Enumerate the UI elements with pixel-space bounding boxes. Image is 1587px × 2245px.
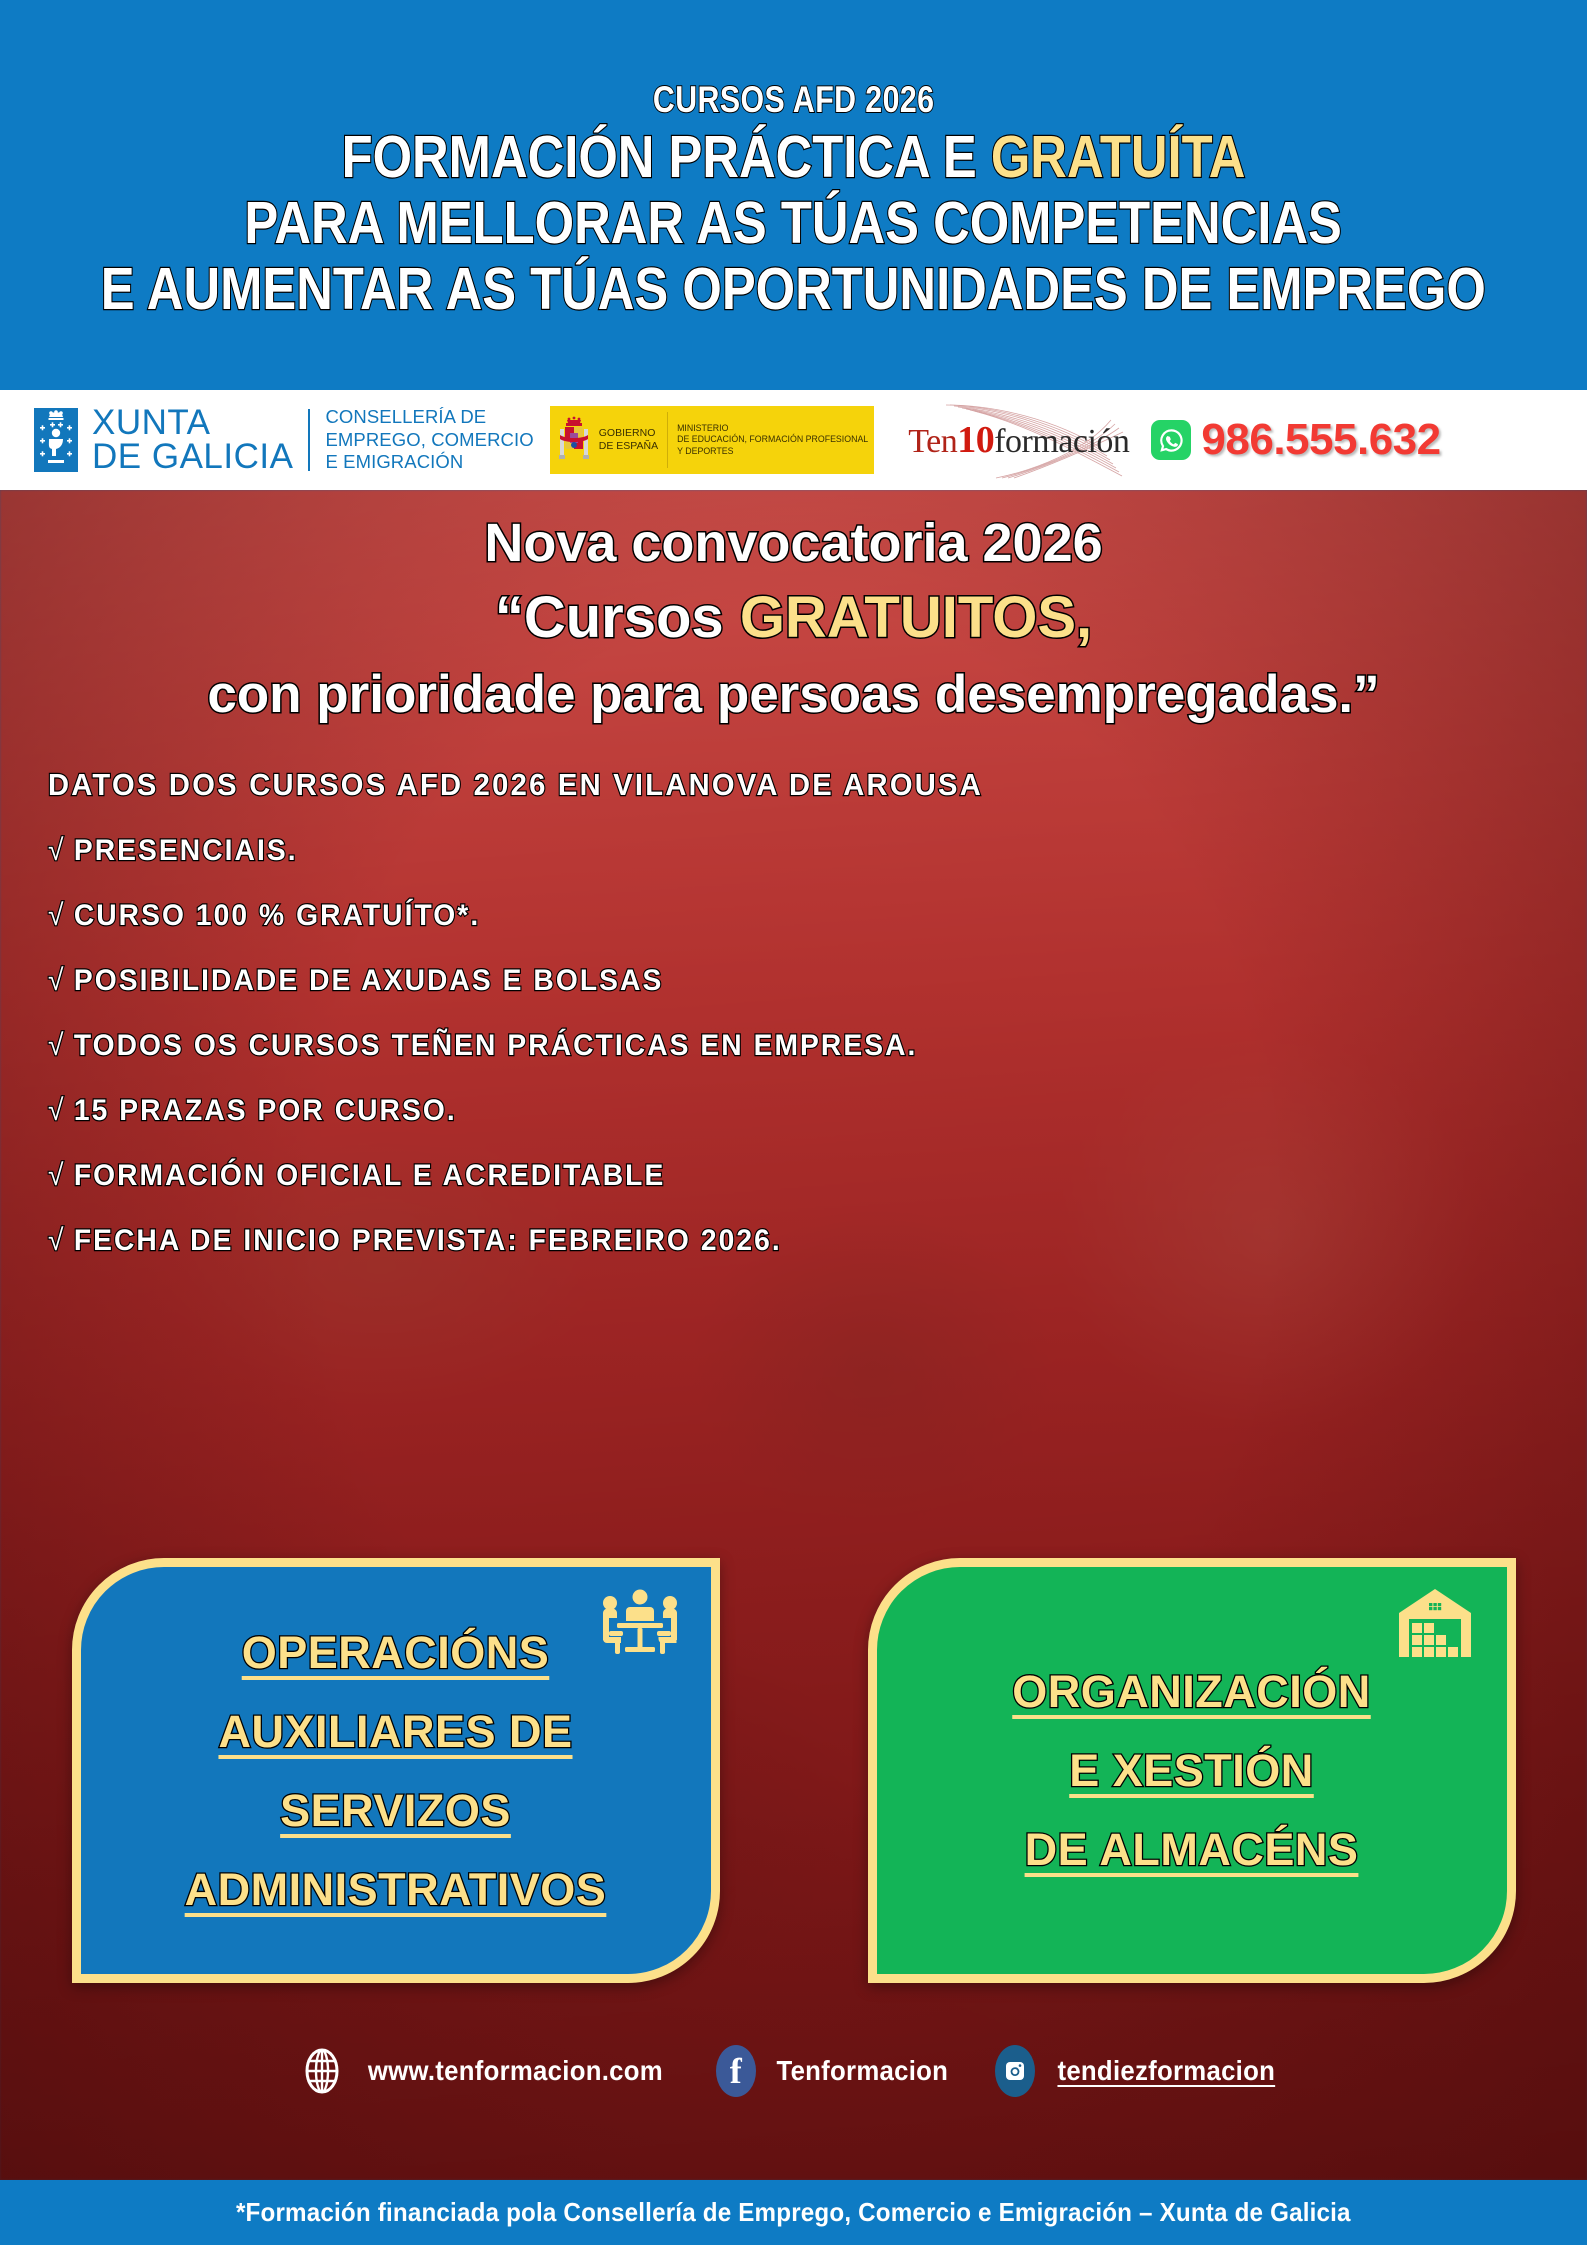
list-item-label: POSIBILIDADE DE AXUDAS E BOLSAS <box>74 964 664 997</box>
list-item: √PRESENCIAIS. <box>48 834 1495 868</box>
whatsapp-contact[interactable]: 986.555.632 <box>1151 415 1440 465</box>
conselleria-line2: EMPREGO, COMERCIO <box>325 429 533 452</box>
list-item: √FECHA DE INICIO PREVISTA: FEBREIRO 2026… <box>48 1224 1495 1258</box>
course-details-heading: DATOS DOS CURSOS AFD 2026 EN VILANOVA DE… <box>48 767 1495 803</box>
xunta-de-galicia-logo: XUNTA DE GALICIA <box>34 406 293 474</box>
list-item: √FORMACIÓN OFICIAL E ACREDITABLE <box>48 1159 1495 1193</box>
social-links: www.tenformacion.com f Tenformacion tend… <box>0 2045 1587 2097</box>
conselleria-line1: CONSELLERÍA DE <box>325 406 533 429</box>
list-item-label: TODOS OS CURSOS TEÑEN PRÁCTICAS EN EMPRE… <box>74 1029 918 1062</box>
check-icon: √ <box>48 899 63 932</box>
logo-bar: XUNTA DE GALICIA CONSELLERÍA DE EMPREGO,… <box>0 390 1587 490</box>
course-card-line: ORGANIZACIÓN <box>1012 1669 1371 1714</box>
meeting-table-icon <box>599 1585 681 1664</box>
gobierno-label: GOBIERNO DE ESPAÑA <box>599 427 658 453</box>
list-item-label: PRESENCIAIS. <box>74 834 298 867</box>
list-item-label: FORMACIÓN OFICIAL E ACREDITABLE <box>74 1159 666 1192</box>
facebook-label[interactable]: Tenformacion <box>776 2055 948 2087</box>
course-card-line: AUXILIARES DE <box>218 1709 572 1754</box>
whatsapp-icon[interactable] <box>1151 420 1191 460</box>
footer-funding-note: *Formación financiada pola Consellería d… <box>236 2197 1351 2228</box>
conselleria-line3: E EMIGRACIÓN <box>325 451 533 474</box>
check-icon: √ <box>48 1224 63 1257</box>
gobierno-de-espana-logo: GOBIERNO DE ESPAÑA MINISTERIO DE EDUCACI… <box>550 406 874 474</box>
header-line-1-text: FORMACIÓN PRÁCTICA E <box>342 124 991 190</box>
phone-number[interactable]: 986.555.632 <box>1201 415 1440 465</box>
course-card-line: DE ALMACÉNS <box>1025 1827 1359 1872</box>
check-icon: √ <box>48 1029 63 1062</box>
course-card-line: E XESTIÓN <box>1069 1748 1314 1793</box>
gobierno-line2: DE ESPAÑA <box>599 440 658 453</box>
warehouse-icon <box>1393 1585 1477 1664</box>
brand-part-ten: Ten <box>908 423 957 460</box>
brand-part-ten-number: 10 <box>957 419 994 461</box>
list-item: √CURSO 100 % GRATUÍTO*. <box>48 899 1495 933</box>
intro-line-1: Nova convocatoria 2026 <box>0 512 1587 576</box>
header-line-2: PARA MELLORAR AS TÚAS COMPETENCIAS <box>245 190 1343 256</box>
xunta-wordmark-line2: DE GALICIA <box>92 440 293 474</box>
list-item-label: 15 PRAZAS POR CURSO. <box>74 1094 457 1127</box>
course-card-line: ADMINISTRATIVOS <box>185 1867 607 1912</box>
course-card-operacions-auxiliares[interactable]: OPERACIÓNS AUXILIARES DE SERVIZOS ADMINI… <box>72 1558 720 1983</box>
check-icon: √ <box>48 964 63 997</box>
facebook-link[interactable]: f Tenformacion <box>716 2045 956 2097</box>
ministerio-line3: Y DEPORTES <box>677 446 868 457</box>
instagram-icon[interactable] <box>995 2045 1035 2097</box>
ministerio-label: MINISTERIO DE EDUCACIÓN, FORMACIÓN PROFE… <box>677 423 868 457</box>
course-card-line: OPERACIÓNS <box>242 1630 550 1675</box>
tenformacion-wordmark: Ten10formación <box>908 418 1129 462</box>
intro-line-2: “Cursos GRATUITOS, <box>0 584 1587 652</box>
check-icon: √ <box>48 834 63 867</box>
intro-line-2-text: “Cursos <box>495 585 740 650</box>
header-line-1-highlight: GRATUÍTA <box>991 124 1246 190</box>
instagram-label[interactable]: tendiezformacion <box>1058 2055 1276 2087</box>
header-line-3: E AUMENTAR AS TÚAS OPORTUNIDADES DE EMPR… <box>101 256 1486 322</box>
intro-line-2-highlight: GRATUITOS, <box>740 585 1092 650</box>
poster-header: CURSOS AFD 2026 FORMACIÓN PRÁCTICA E GRA… <box>0 0 1587 390</box>
poster-body: Nova convocatoria 2026 “Cursos GRATUITOS… <box>0 490 1587 2180</box>
globe-icon <box>302 2048 342 2094</box>
check-icon: √ <box>48 1094 63 1127</box>
course-cards: OPERACIÓNS AUXILIARES DE SERVIZOS ADMINI… <box>0 1558 1587 1983</box>
list-item: √TODOS OS CURSOS TEÑEN PRÁCTICAS EN EMPR… <box>48 1029 1495 1063</box>
xunta-wordmark: XUNTA DE GALICIA <box>92 406 293 474</box>
logo-divider <box>308 409 310 471</box>
website-label[interactable]: www.tenformacion.com <box>368 2055 663 2087</box>
header-line-1: FORMACIÓN PRÁCTICA E GRATUÍTA <box>342 124 1246 190</box>
intro-line-3: con prioridade para persoas desempregada… <box>0 664 1587 727</box>
xunta-chalice-shield-icon <box>34 408 78 472</box>
header-kicker: CURSOS AFD 2026 <box>653 81 935 120</box>
website-link[interactable]: www.tenformacion.com <box>302 2048 676 2094</box>
list-item-label: FECHA DE INICIO PREVISTA: FEBREIRO 2026. <box>74 1224 782 1257</box>
gobierno-line1: GOBIERNO <box>599 427 658 440</box>
list-item: √POSIBILIDADE DE AXUDAS E BOLSAS <box>48 964 1495 998</box>
ministerio-line2: DE EDUCACIÓN, FORMACIÓN PROFESIONAL <box>677 434 868 445</box>
course-card-line: SERVIZOS <box>280 1788 511 1833</box>
list-item-label: CURSO 100 % GRATUÍTO*. <box>74 899 480 932</box>
gobierno-divider <box>667 412 668 468</box>
xunta-wordmark-line1: XUNTA <box>92 406 293 440</box>
brand-part-formacion: formación <box>994 423 1129 460</box>
spain-coat-of-arms-icon <box>556 406 594 474</box>
course-details-list: DATOS DOS CURSOS AFD 2026 EN VILANOVA DE… <box>0 727 1587 1258</box>
tenformacion-logo: Ten10formación <box>908 404 1129 476</box>
conselleria-text: CONSELLERÍA DE EMPREGO, COMERCIO E EMIGR… <box>325 406 533 474</box>
intro-headline: Nova convocatoria 2026 “Cursos GRATUITOS… <box>0 490 1587 727</box>
ministerio-line1: MINISTERIO <box>677 423 868 434</box>
facebook-icon[interactable]: f <box>716 2045 756 2097</box>
check-icon: √ <box>48 1159 63 1192</box>
list-item: √15 PRAZAS POR CURSO. <box>48 1094 1495 1128</box>
instagram-link[interactable]: tendiezformacion <box>995 2045 1285 2097</box>
course-card-organizacion-almacens[interactable]: ORGANIZACIÓN E XESTIÓN DE ALMACÉNS <box>868 1558 1516 1983</box>
poster-footer: *Formación financiada pola Consellería d… <box>0 2180 1587 2245</box>
